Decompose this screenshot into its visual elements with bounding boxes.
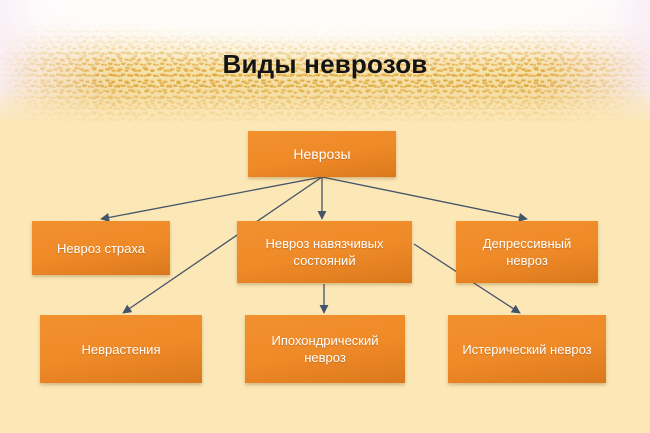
node-depressive-label: Депрессивный невроз [462, 235, 592, 269]
node-fear[interactable]: Невроз страха [32, 221, 170, 275]
node-hypochondriac[interactable]: Ипохондрический невроз [245, 315, 405, 383]
node-hysterical[interactable]: Истерический невроз [448, 315, 606, 383]
node-obsessive[interactable]: Невроз навязчивых состояний [237, 221, 412, 283]
node-obsessive-label: Невроз навязчивых состояний [243, 235, 406, 269]
page-title: Виды неврозов [0, 49, 650, 80]
node-hysterical-label: Истерический невроз [462, 341, 591, 358]
node-neurasthenia[interactable]: Неврастения [40, 315, 202, 383]
node-depressive[interactable]: Депрессивный невроз [456, 221, 598, 283]
edge-root-to-depressive [322, 177, 527, 219]
node-neurasthenia-label: Неврастения [81, 341, 160, 358]
node-fear-label: Невроз страха [57, 240, 145, 257]
node-root[interactable]: Неврозы [248, 131, 396, 177]
edge-root-to-fear [101, 177, 322, 219]
node-root-label: Неврозы [293, 146, 350, 163]
node-hypochondriac-label: Ипохондрический невроз [251, 332, 399, 366]
